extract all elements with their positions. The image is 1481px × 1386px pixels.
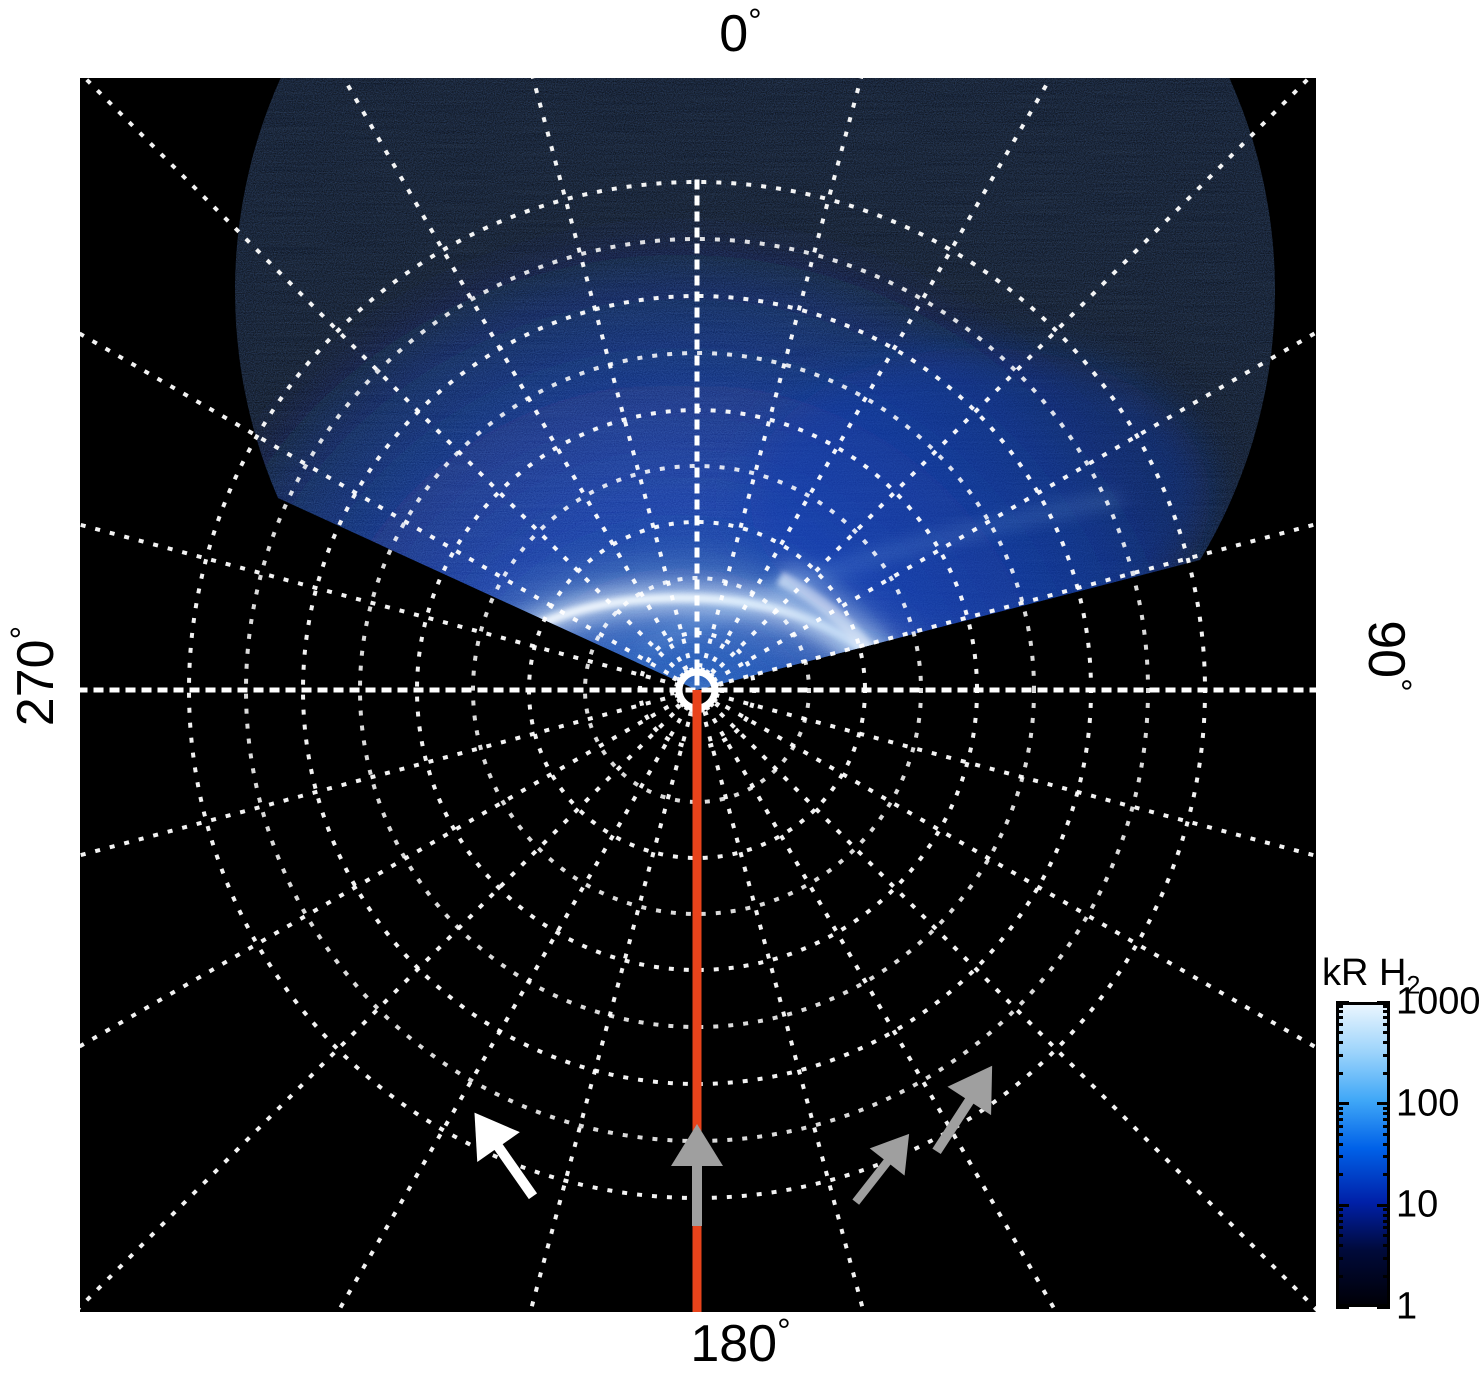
axis-label-90: 90° (1360, 556, 1412, 756)
colorbar-minor-tick (1336, 1234, 1343, 1237)
colorbar-major-tick (1336, 1001, 1349, 1004)
colorbar-minor-tick (1383, 1031, 1390, 1034)
colorbar-minor-tick (1336, 1133, 1343, 1136)
colorbar-minor-tick (1383, 1133, 1390, 1136)
colorbar-minor-tick (1383, 1016, 1390, 1019)
axis-label-0-text: 0 (719, 5, 748, 63)
colorbar-minor-tick (1383, 1214, 1390, 1217)
colorbar-major-tick (1377, 1001, 1390, 1004)
colorbar-major-tick (1377, 1204, 1390, 1207)
colorbar-minor-tick (1383, 1005, 1390, 1008)
axis-label-270: 270° (10, 576, 62, 776)
colorbar-minor-tick (1336, 1257, 1343, 1260)
colorbar-minor-tick (1383, 1125, 1390, 1128)
colorbar-minor-tick (1383, 1220, 1390, 1223)
axis-label-180: 180° (0, 1318, 1481, 1370)
colorbar-minor-tick (1336, 1275, 1343, 1278)
colorbar-minor-tick (1336, 1173, 1343, 1176)
colorbar-minor-tick (1383, 1010, 1390, 1013)
colorbar-major-tick (1336, 1306, 1349, 1309)
colorbar-minor-tick (1336, 1214, 1343, 1217)
colorbar-title-text: kR H (1322, 952, 1406, 994)
degree-symbol-bottom: ° (777, 1313, 791, 1351)
colorbar-minor-tick (1336, 1054, 1343, 1057)
colorbar-minor-tick (1336, 1244, 1343, 1247)
arrow-shaft (692, 1160, 702, 1226)
polar-plot-panel (80, 78, 1316, 1312)
figure-canvas: 0° 180° 270° 90° kR H2 1000100101 (0, 0, 1481, 1386)
colorbar-minor-tick (1383, 1118, 1390, 1121)
colorbar-ticks (1336, 1002, 1390, 1307)
degree-symbol-left: ° (5, 626, 43, 640)
colorbar-minor-tick (1336, 1155, 1343, 1158)
colorbar-tick-label-1: 1 (1396, 1286, 1417, 1329)
colorbar-minor-tick (1383, 1155, 1390, 1158)
axis-label-180-text: 180 (690, 1315, 777, 1373)
axis-label-270-text: 270 (7, 639, 65, 726)
colorbar-minor-tick (1336, 1072, 1343, 1075)
degree-symbol-right: ° (1379, 678, 1417, 692)
colorbar-major-tick (1336, 1102, 1349, 1105)
colorbar-minor-tick (1383, 1072, 1390, 1075)
colorbar-major-tick (1377, 1306, 1390, 1309)
colorbar-tick-label-1000: 1000 (1396, 981, 1481, 1024)
colorbar-major-tick (1377, 1102, 1390, 1105)
axis-label-90-text: 90 (1357, 620, 1415, 678)
colorbar-minor-tick (1383, 1054, 1390, 1057)
colorbar-tick-label-100: 100 (1396, 1082, 1459, 1125)
colorbar-minor-tick (1383, 1226, 1390, 1229)
colorbar-minor-tick (1383, 1257, 1390, 1260)
colorbar-minor-tick (1383, 1143, 1390, 1146)
colorbar-minor-tick (1336, 1125, 1343, 1128)
colorbar-minor-tick (1383, 1041, 1390, 1044)
colorbar-minor-tick (1336, 1112, 1343, 1115)
degree-symbol-top: ° (748, 3, 762, 41)
colorbar-minor-tick (1336, 1226, 1343, 1229)
colorbar-minor-tick (1383, 1112, 1390, 1115)
colorbar-minor-tick (1383, 1234, 1390, 1237)
colorbar-tick-label-10: 10 (1396, 1184, 1438, 1227)
colorbar-minor-tick (1383, 1107, 1390, 1110)
colorbar-minor-tick (1336, 1005, 1343, 1008)
colorbar-minor-tick (1336, 1208, 1343, 1211)
colorbar-minor-tick (1336, 1220, 1343, 1223)
colorbar-minor-tick (1383, 1244, 1390, 1247)
colorbar-major-tick (1336, 1204, 1349, 1207)
colorbar-minor-tick (1336, 1031, 1343, 1034)
colorbar-minor-tick (1336, 1023, 1343, 1026)
colorbar-minor-tick (1336, 1143, 1343, 1146)
colorbar-minor-tick (1383, 1173, 1390, 1176)
colorbar-minor-tick (1383, 1275, 1390, 1278)
colorbar-minor-tick (1336, 1118, 1343, 1121)
colorbar-minor-tick (1336, 1107, 1343, 1110)
colorbar-minor-tick (1383, 1023, 1390, 1026)
colorbar-minor-tick (1336, 1010, 1343, 1013)
colorbar-minor-tick (1336, 1016, 1343, 1019)
colorbar-minor-tick (1383, 1208, 1390, 1211)
colorbar: kR H2 1000100101 (1322, 952, 1481, 1332)
axis-label-0: 0° (0, 8, 1481, 60)
polar-plot-svg (80, 78, 1316, 1312)
colorbar-minor-tick (1336, 1041, 1343, 1044)
